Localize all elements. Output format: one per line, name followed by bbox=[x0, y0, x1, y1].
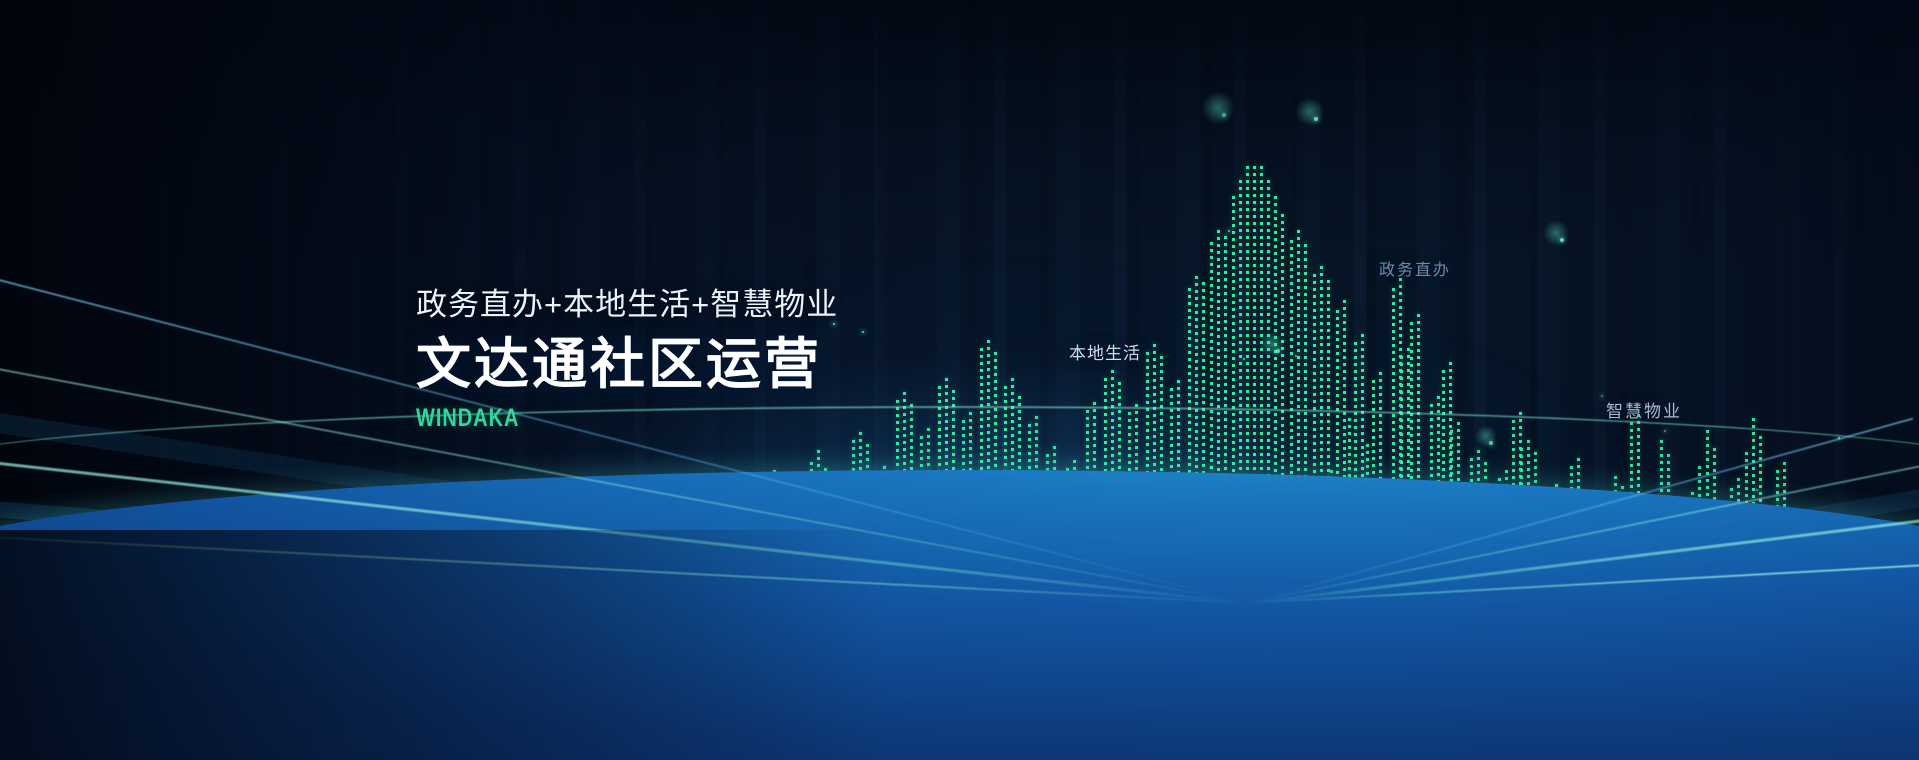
sparkle-glow bbox=[1255, 327, 1289, 361]
sparkle-dot bbox=[862, 331, 864, 333]
sparkle-glow bbox=[1290, 92, 1330, 132]
sparkle-dot bbox=[1295, 355, 1297, 357]
sparkle-dot bbox=[1838, 437, 1840, 439]
sparkle-dot bbox=[1243, 358, 1245, 360]
sparkle-dot bbox=[1601, 395, 1603, 397]
sparkle-dot bbox=[1210, 467, 1212, 469]
banner-headline: 文达通社区运营 bbox=[416, 335, 838, 394]
brand-wordmark: WINDAKA bbox=[416, 404, 754, 433]
sparkle-dot bbox=[1664, 430, 1666, 432]
city-label-gov-service: 政务直办 bbox=[1379, 256, 1451, 280]
sparkle-dot bbox=[1756, 489, 1758, 491]
ground-plane bbox=[0, 470, 1919, 760]
city-label-smart-property: 智慧物业 bbox=[1606, 397, 1682, 422]
sparkle-glow bbox=[1538, 215, 1574, 251]
banner-subtitle: 政务直办+本地生活+智慧物业 bbox=[416, 288, 838, 322]
sparkle-dot bbox=[1228, 230, 1230, 232]
headline-block: 政务直办+本地生活+智慧物业 文达通社区运营 WINDAKA bbox=[416, 288, 838, 433]
sparkle-glow bbox=[1471, 421, 1501, 451]
hero-banner: 政务直办+本地生活+智慧物业 文达通社区运营 WINDAKA 本地生活 政务直办… bbox=[0, 0, 1919, 760]
sparkle-glow bbox=[1195, 85, 1241, 131]
city-label-local-life: 本地生活 bbox=[1069, 339, 1141, 364]
